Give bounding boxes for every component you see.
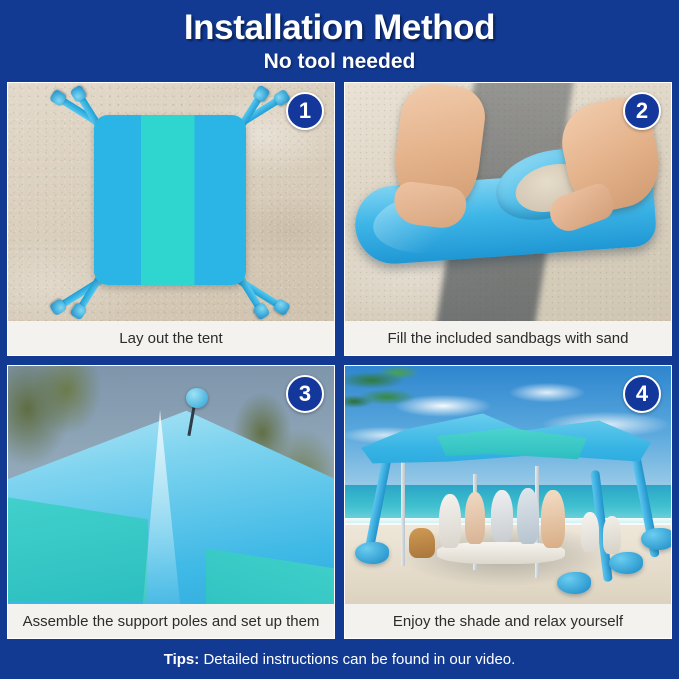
installation-method-poster: Installation Method No tool needed 1 Lay…: [0, 0, 679, 679]
step-2-photo: 2: [345, 83, 671, 321]
person-child: [581, 512, 599, 552]
step-4-photo: 4: [345, 366, 671, 604]
person-child: [603, 516, 621, 554]
sandbag-anchor: [609, 552, 643, 574]
tips-bar: Tips: Detailed instructions can be found…: [0, 645, 679, 679]
step-badge-2: 2: [623, 92, 661, 130]
person: [517, 488, 539, 544]
dog: [409, 528, 435, 558]
page-subtitle: No tool needed: [0, 48, 679, 74]
header: Installation Method No tool needed: [0, 0, 679, 80]
step-3-photo: 3: [8, 366, 334, 604]
person: [439, 494, 461, 548]
step-caption-2: Fill the included sandbags with sand: [345, 321, 671, 356]
step-panel-3: 3 Assemble the support poles and set up …: [7, 365, 335, 639]
step-badge-1: 1: [286, 92, 324, 130]
person: [491, 490, 513, 542]
step-panel-1: 1 Lay out the tent: [7, 82, 335, 356]
canopy-fabric: [94, 115, 246, 285]
step-caption-4: Enjoy the shade and relax yourself: [345, 604, 671, 639]
step-badge-4: 4: [623, 375, 661, 413]
tips-text: Detailed instructions can be found in ou…: [203, 651, 515, 668]
person: [465, 492, 485, 544]
person: [541, 490, 565, 548]
step-panel-4: 4 Enjoy the shade and relax yourself: [344, 365, 672, 639]
step-caption-3: Assemble the support poles and set up th…: [8, 604, 334, 639]
step-badge-3: 3: [286, 375, 324, 413]
sandbag-anchor: [641, 528, 671, 550]
steps-grid: 1 Lay out the tent 2 Fill the included s…: [7, 82, 672, 639]
step-panel-2: 2 Fill the included sandbags with sand: [344, 82, 672, 356]
sandbag-anchor: [355, 542, 389, 564]
step-1-photo: 1: [8, 83, 334, 321]
pole-cap: [186, 388, 208, 408]
page-title: Installation Method: [0, 0, 679, 48]
support-pole: [401, 462, 405, 566]
step-caption-1: Lay out the tent: [8, 321, 334, 356]
sandbag-anchor: [557, 572, 591, 594]
tips-label: Tips:: [164, 651, 200, 668]
